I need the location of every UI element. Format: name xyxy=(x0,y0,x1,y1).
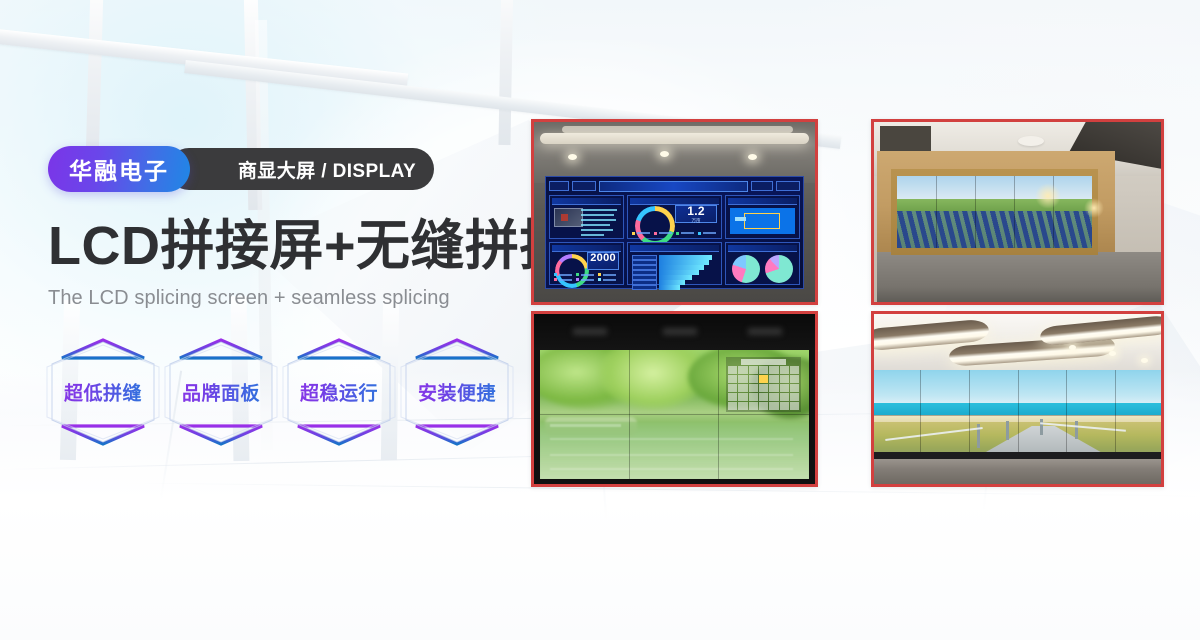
feature-hexagon-3: 超稳运行 xyxy=(280,336,398,448)
panel-text-lines xyxy=(581,209,619,239)
panel-header xyxy=(552,198,620,205)
dashboard-panel-grid: 1.2 万亩 xyxy=(549,195,800,285)
solar-panel-array xyxy=(897,211,1092,248)
fence-post-4 xyxy=(1075,421,1078,439)
feature-hexagon-1: 超低拼缝 xyxy=(44,336,162,448)
dashboard-panel-flow-diagram xyxy=(725,195,799,239)
kpi-value: 2000 xyxy=(590,253,616,264)
calendar-cell xyxy=(738,393,747,401)
legend-item xyxy=(654,232,672,235)
dashboard-nav-item xyxy=(549,181,569,191)
calendar-cell xyxy=(790,375,799,383)
feature-hexagon-label: 安装便捷 xyxy=(398,379,516,406)
calendar-widget xyxy=(726,357,802,411)
calendar-cell xyxy=(769,375,778,383)
calendar-cell xyxy=(780,366,789,374)
photo-willow-pond-wall[interactable] xyxy=(531,311,818,487)
calendar-cell xyxy=(738,375,747,383)
fence-post-3 xyxy=(1040,419,1043,435)
category-badge: 商显大屏 / DISPLAY xyxy=(168,148,434,190)
calendar-cell xyxy=(749,402,758,410)
calendar-cell xyxy=(759,402,768,410)
band-glow-1 xyxy=(573,328,607,335)
upper-dark-band xyxy=(534,314,815,350)
text-line xyxy=(581,209,617,211)
panel-header xyxy=(728,198,796,205)
calendar-cell xyxy=(759,366,768,374)
dashboard-panel-pie-charts xyxy=(725,242,799,286)
ceiling-recess-box xyxy=(880,126,932,153)
lobby-floor xyxy=(874,459,1161,485)
brand-badge: 华融电子 xyxy=(48,146,190,192)
calendar-cell xyxy=(759,393,768,401)
calendar-cell xyxy=(728,384,737,392)
calendar-cell xyxy=(769,402,778,410)
calendar-grid xyxy=(728,366,800,409)
calendar-cell xyxy=(790,393,799,401)
calendar-cell xyxy=(738,366,747,374)
calendar-cell xyxy=(728,375,737,383)
water-reflection-2 xyxy=(550,454,793,456)
dashboard-title-bar xyxy=(599,181,748,192)
legend-item xyxy=(554,278,572,281)
dashboard-panel-donut-kpi: 1.2 万亩 xyxy=(627,195,723,239)
panel-header xyxy=(728,245,796,252)
calendar-title xyxy=(741,359,785,365)
donut-chart xyxy=(635,206,675,246)
band-glow-3 xyxy=(748,328,782,335)
calendar-cell xyxy=(769,393,778,401)
feature-hexagon-label: 超稳运行 xyxy=(280,379,398,406)
calendar-cell xyxy=(728,402,737,410)
text-line xyxy=(581,214,614,216)
kpi-unit: 万亩 xyxy=(692,218,701,224)
calendar-cell xyxy=(780,402,789,410)
calendar-cell xyxy=(780,393,789,401)
panel-header xyxy=(630,245,720,252)
calendar-cell xyxy=(759,384,768,392)
wood-room-scene xyxy=(874,122,1161,302)
pie-chart-right xyxy=(765,255,793,283)
text-line xyxy=(581,224,610,226)
bar-chart xyxy=(632,255,718,281)
panel-seam-v1 xyxy=(936,176,937,248)
band-glow-2 xyxy=(663,328,697,335)
text-line xyxy=(581,229,613,231)
legend-item xyxy=(598,273,616,276)
legend-item xyxy=(698,232,716,235)
dashboard-nav-item xyxy=(776,181,800,191)
sky xyxy=(897,176,1092,200)
calendar-cell xyxy=(769,384,778,392)
pond-water xyxy=(540,422,810,479)
pond-landscape-image xyxy=(540,350,810,479)
kpi-card-primary: 1.2 万亩 xyxy=(675,205,716,223)
wall-sconce-glow-2 xyxy=(1084,198,1104,218)
beach-video-wall xyxy=(874,370,1161,460)
calendar-cell xyxy=(749,393,758,401)
pond-wall-scene xyxy=(534,314,815,484)
kpi-value: 1.2 xyxy=(687,205,705,217)
panel-header xyxy=(630,198,720,205)
calendar-cell xyxy=(790,384,799,392)
feature-hexagon-label: 品牌面板 xyxy=(162,379,280,406)
pie-chart-group xyxy=(730,257,794,281)
feature-hexagon-label: 超低拼缝 xyxy=(44,379,162,406)
video-wall-dashboard: 1.2 万亩 xyxy=(545,176,804,289)
flow-diagram xyxy=(730,208,794,234)
panel-seam-h1 xyxy=(540,414,810,415)
dashboard-panel-bar-chart xyxy=(627,242,723,286)
chart-legend xyxy=(632,232,718,235)
solar-farm-video-wall xyxy=(897,176,1092,248)
ceiling-cove-light xyxy=(540,133,810,144)
panel-seam-v2 xyxy=(975,176,976,248)
legend-item xyxy=(632,232,650,235)
badge-row: 商显大屏 / DISPLAY 华融电子 xyxy=(48,146,518,192)
panel-seam-h1 xyxy=(874,415,1161,416)
dashboard-panel-overview xyxy=(549,195,623,239)
feature-hexagon-2: 品牌面板 xyxy=(162,336,280,448)
donut-chart-small xyxy=(555,254,589,288)
calendar-cell xyxy=(749,375,758,383)
feature-hexagon-4: 安装便捷 xyxy=(398,336,516,448)
calendar-cell xyxy=(749,384,758,392)
text-line xyxy=(581,219,616,221)
feature-hexagon-list: 超低拼缝 品牌面板 超稳运行 xyxy=(44,336,518,448)
page-title: LCD拼接屏+无缝拼接 xyxy=(48,218,518,275)
lobby-scene xyxy=(874,314,1161,484)
text-line xyxy=(581,234,604,236)
panel-header xyxy=(552,245,620,252)
legend-item xyxy=(576,273,594,276)
calendar-cell xyxy=(780,384,789,392)
calendar-cell xyxy=(738,402,747,410)
calendar-cell xyxy=(780,375,789,383)
ceiling-downlight-1 xyxy=(1069,345,1076,350)
photo-lobby-beach-boardwalk[interactable] xyxy=(871,311,1164,487)
calendar-cell xyxy=(738,384,747,392)
calendar-cell xyxy=(749,366,758,374)
legend-item xyxy=(676,232,694,235)
dashboard-header xyxy=(549,180,800,192)
fence-post-2 xyxy=(1006,421,1009,441)
water-reflection-1 xyxy=(550,438,793,440)
calendar-cell xyxy=(728,366,737,374)
dashboard-panel-secondary-kpi: 2000 xyxy=(549,242,623,286)
pie-chart-left xyxy=(732,255,760,283)
panel-seam-v3 xyxy=(1014,176,1015,248)
calendar-cell xyxy=(790,366,799,374)
legend-item xyxy=(598,278,616,281)
chart-legend xyxy=(554,273,618,281)
product-banner: 商显大屏 / DISPLAY 华融电子 LCD拼接屏+无缝拼接 The LCD … xyxy=(0,0,1200,640)
legend-item xyxy=(576,278,594,281)
panel-thumbnail xyxy=(554,208,583,227)
calendar-cell xyxy=(790,402,799,410)
calendar-cell xyxy=(728,393,737,401)
kpi-card-secondary: 2000 xyxy=(587,252,619,270)
dashboard-nav-item xyxy=(572,181,596,191)
bar-row xyxy=(632,285,718,290)
calendar-cell-today xyxy=(759,375,768,383)
dashboard-nav-item xyxy=(751,181,773,191)
legend-item xyxy=(554,273,572,276)
kpi-unit xyxy=(602,265,603,270)
photo-wood-room-solar-farm[interactable] xyxy=(871,119,1164,305)
lower-wall xyxy=(877,252,1161,302)
photo-control-room-dashboard[interactable]: 1.2 万亩 xyxy=(531,119,818,305)
ceiling-cove-back xyxy=(562,126,792,133)
wall-sconce-glow-1 xyxy=(1035,183,1061,209)
calendar-cell xyxy=(769,366,778,374)
banner-copy: 商显大屏 / DISPLAY 华融电子 LCD拼接屏+无缝拼接 The LCD … xyxy=(48,146,518,448)
water-reflection-3 xyxy=(550,468,793,470)
control-room-scene: 1.2 万亩 xyxy=(534,122,815,302)
page-subtitle: The LCD splicing screen + seamless splic… xyxy=(48,287,518,310)
